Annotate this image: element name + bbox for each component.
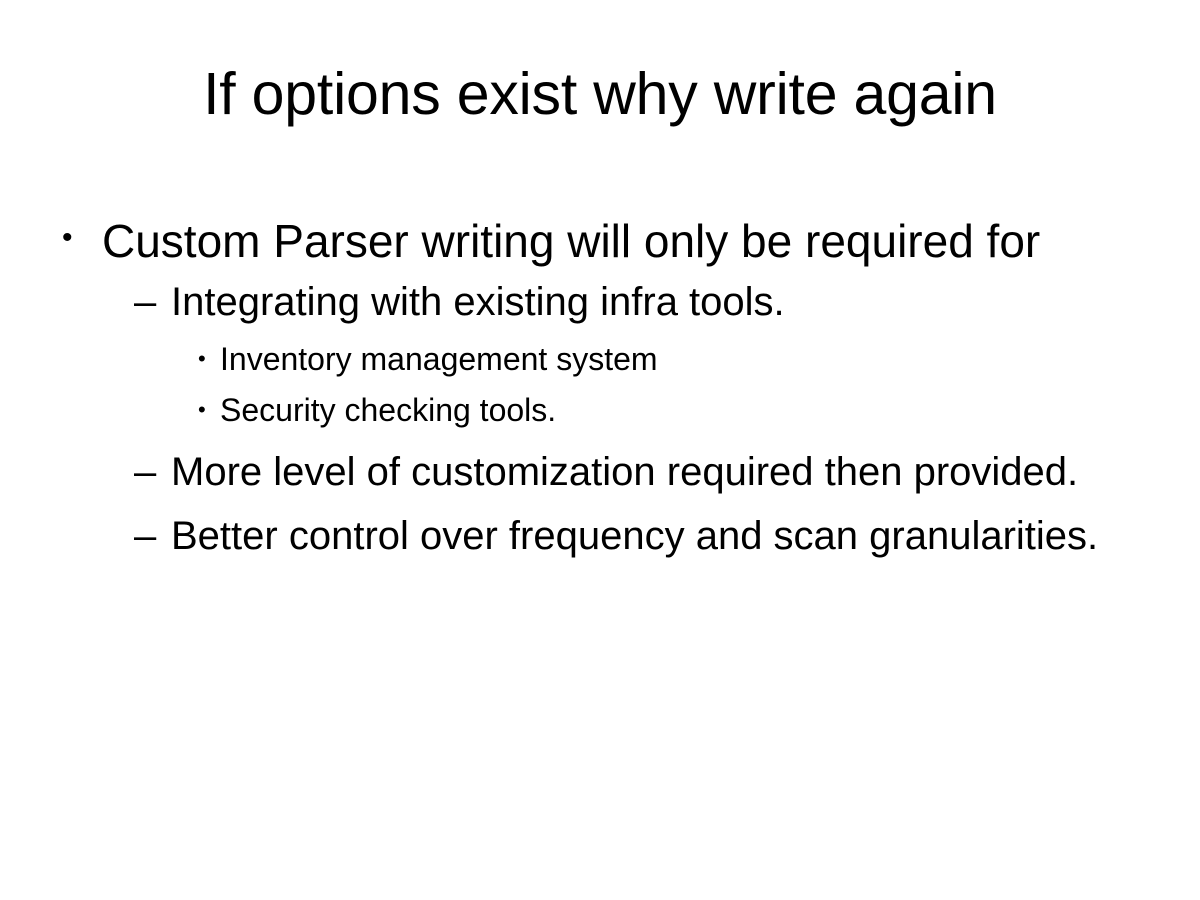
bullet-level2-text: Better control over frequency and scan g… (171, 512, 1152, 560)
bullet-level2-text: More level of customization required the… (171, 448, 1152, 496)
bullet-level3: • Inventory management system (198, 340, 1152, 379)
bullet-dot-icon: • (198, 340, 220, 379)
bullet-level2: – Integrating with existing infra tools. (134, 278, 1152, 326)
bullet-level1-text: Custom Parser writing will only be requi… (102, 214, 1152, 268)
bullet-level2-text: Integrating with existing infra tools. (171, 278, 1152, 326)
bullet-dot-icon: • (62, 214, 102, 262)
bullet-level3-group: • Inventory management system • Security… (62, 340, 1152, 430)
slide-body-placeholder: • Custom Parser writing will only be req… (62, 214, 1152, 568)
bullet-dot-icon: • (198, 391, 220, 430)
bullet-level1: • Custom Parser writing will only be req… (62, 214, 1152, 268)
bullet-dash-icon: – (134, 448, 171, 496)
slide-canvas: If options exist why write again • Custo… (0, 0, 1200, 900)
bullet-level3-text: Inventory management system (220, 340, 1152, 379)
bullet-dash-icon: – (134, 512, 171, 560)
bullet-level2: – Better control over frequency and scan… (134, 512, 1152, 560)
page-title: If options exist why write again (60, 62, 1140, 127)
bullet-level3: • Security checking tools. (198, 391, 1152, 430)
bullet-level3-text: Security checking tools. (220, 391, 1152, 430)
bullet-level2: – More level of customization required t… (134, 448, 1152, 496)
bullet-dash-icon: – (134, 278, 171, 326)
